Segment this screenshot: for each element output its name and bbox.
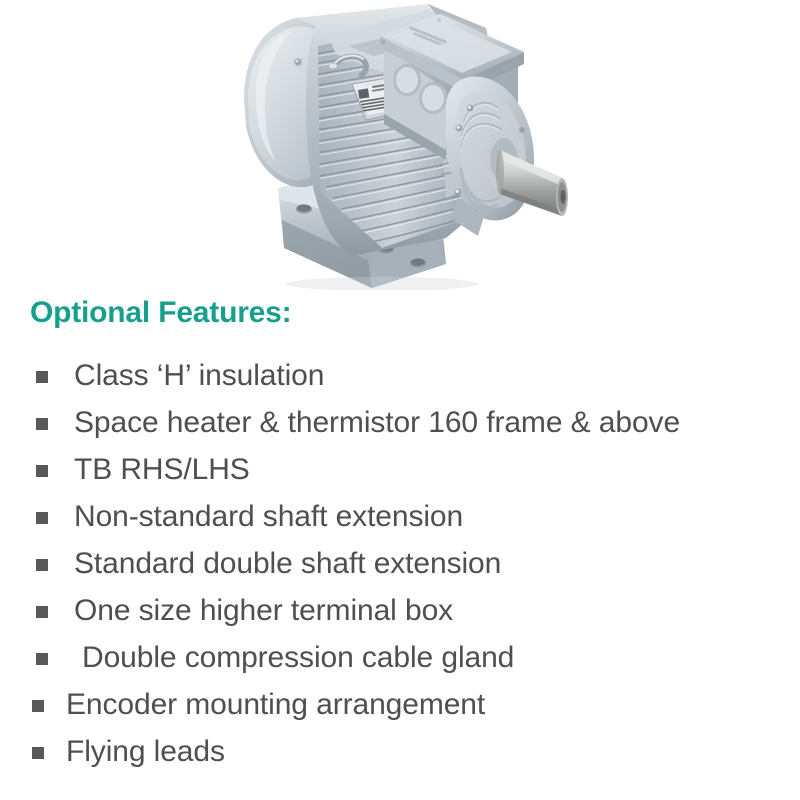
electric-motor-illustration bbox=[232, 2, 568, 290]
feature-label: Double compression cable gland bbox=[82, 641, 514, 675]
feature-label: Space heater & thermistor 160 frame & ab… bbox=[74, 406, 680, 440]
product-image bbox=[0, 0, 800, 292]
square-bullet-icon bbox=[36, 465, 48, 477]
optional-features-list: Class ‘H’ insulation Space heater & ther… bbox=[0, 352, 800, 775]
square-bullet-icon bbox=[36, 512, 48, 524]
list-item: Double compression cable gland bbox=[0, 634, 800, 681]
square-bullet-icon bbox=[36, 606, 48, 618]
optional-features-heading: Optional Features: bbox=[30, 297, 291, 329]
feature-label: Encoder mounting arrangement bbox=[66, 688, 485, 722]
square-bullet-icon bbox=[36, 559, 48, 571]
feature-label: Class ‘H’ insulation bbox=[74, 359, 324, 393]
list-item: Encoder mounting arrangement bbox=[0, 681, 800, 728]
square-bullet-icon bbox=[36, 371, 48, 383]
list-item: Standard double shaft extension bbox=[0, 540, 800, 587]
feature-label: One size higher terminal box bbox=[74, 594, 453, 628]
list-item: One size higher terminal box bbox=[0, 587, 800, 634]
features-page: Optional Features: Class ‘H’ insulation … bbox=[0, 0, 800, 800]
feature-label: Standard double shaft extension bbox=[74, 547, 501, 581]
feature-label: Non-standard shaft extension bbox=[74, 500, 463, 534]
list-item: Non-standard shaft extension bbox=[0, 493, 800, 540]
feature-label: Flying leads bbox=[66, 735, 225, 769]
square-bullet-icon bbox=[32, 747, 44, 759]
square-bullet-icon bbox=[32, 700, 44, 712]
square-bullet-icon bbox=[36, 653, 48, 665]
feature-label: TB RHS/LHS bbox=[74, 453, 250, 487]
list-item: Flying leads bbox=[0, 728, 800, 775]
list-item: Class ‘H’ insulation bbox=[0, 352, 800, 399]
list-item: TB RHS/LHS bbox=[0, 446, 800, 493]
motor-drive-end-shield bbox=[446, 76, 534, 236]
list-item: Space heater & thermistor 160 frame & ab… bbox=[0, 399, 800, 446]
square-bullet-icon bbox=[36, 418, 48, 430]
